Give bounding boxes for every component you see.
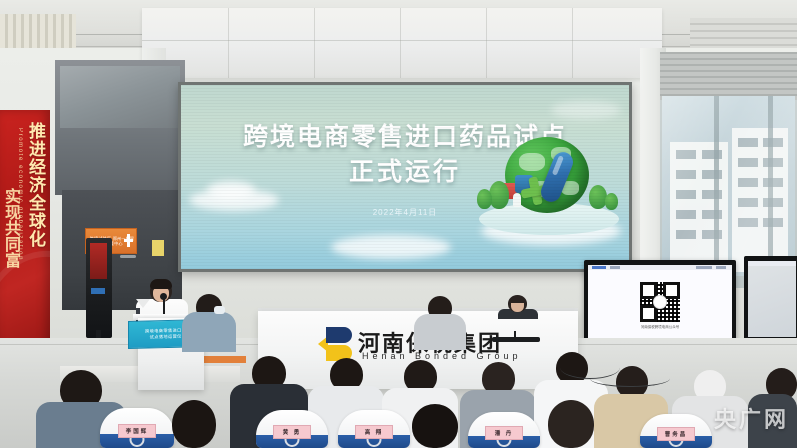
led-screen: 跨境电商零售进口药品试点 正式运行 2022年4月11日 (181, 85, 629, 269)
nameplate: 李国辉 (118, 424, 156, 438)
table-microphone-stem (514, 331, 516, 339)
medical-cross-icon (124, 234, 133, 247)
logo-english-text: Henan Bonded Group (362, 351, 522, 361)
nameplate-text: 李国辉 (126, 427, 149, 435)
soffit-panel (142, 8, 662, 78)
window-glare (662, 96, 795, 276)
attendee-shoulders (414, 314, 466, 350)
attendee-head-foreground (412, 404, 458, 448)
window-top-slats (660, 52, 797, 100)
pa-speaker-badge (91, 288, 105, 294)
podium-microphone (160, 293, 167, 300)
bonded-group-logo-mark (318, 327, 352, 361)
door-handle (120, 255, 136, 258)
chair-with-nameplate: 黄 勇 (256, 410, 328, 448)
screen-scanline-overlay (181, 85, 629, 269)
attendee-head-foreground (172, 400, 216, 448)
monitor-screen (748, 261, 796, 337)
broadcaster-watermark: 央广网 (714, 402, 789, 434)
nameplate-text: 高 翔 (365, 428, 384, 436)
chair-with-nameplate: 曹务昌 (640, 414, 712, 448)
nameplate-text: 潘 丹 (495, 429, 514, 437)
attendee-shoulders (182, 312, 236, 352)
monitor-screen: 河南保税跨境电商公众号 (588, 265, 732, 341)
chair-with-nameplate: 高 翔 (338, 410, 410, 448)
chair-with-nameplate: 李国辉 (100, 408, 174, 448)
table-microphone (492, 337, 540, 342)
led-screen-frame: 跨境电商零售进口药品试点 正式运行 2022年4月11日 (178, 82, 632, 272)
nameplate-text: 黄 勇 (283, 428, 302, 436)
nameplate: 高 翔 (355, 425, 393, 439)
nameplate: 曹务昌 (657, 427, 695, 441)
banner-main-text: 推进经济全球化 (24, 122, 46, 248)
face-mask (214, 306, 225, 314)
qr-caption: 河南保税跨境电商公众号 (588, 325, 732, 330)
chair-with-nameplate: 潘 丹 (468, 412, 540, 448)
nameplate: 黄 勇 (273, 425, 311, 439)
nameplate: 潘 丹 (485, 426, 523, 440)
recess-glass (60, 66, 180, 128)
floor-cable (590, 370, 670, 387)
secondary-monitor[interactable] (744, 256, 797, 348)
qr-code (640, 282, 680, 322)
nameplate-text: 曹务昌 (665, 430, 688, 438)
pa-speaker-red-panel (90, 243, 107, 279)
monitor-toolbar (588, 265, 732, 270)
banner-english-text: Promote economic globalization (14, 128, 24, 261)
speaker-hair (150, 279, 172, 289)
monitor-toolbar (748, 261, 796, 266)
photo-scene: 跨境试验区 郑州一般贸易监管中心 实现共同富 推进经济全球化 Promote e… (0, 0, 797, 448)
door-notice-plate (152, 240, 164, 256)
podium-banner-line2: 试点落地运营仪式 (150, 334, 187, 341)
attendee-head-foreground (548, 400, 594, 448)
